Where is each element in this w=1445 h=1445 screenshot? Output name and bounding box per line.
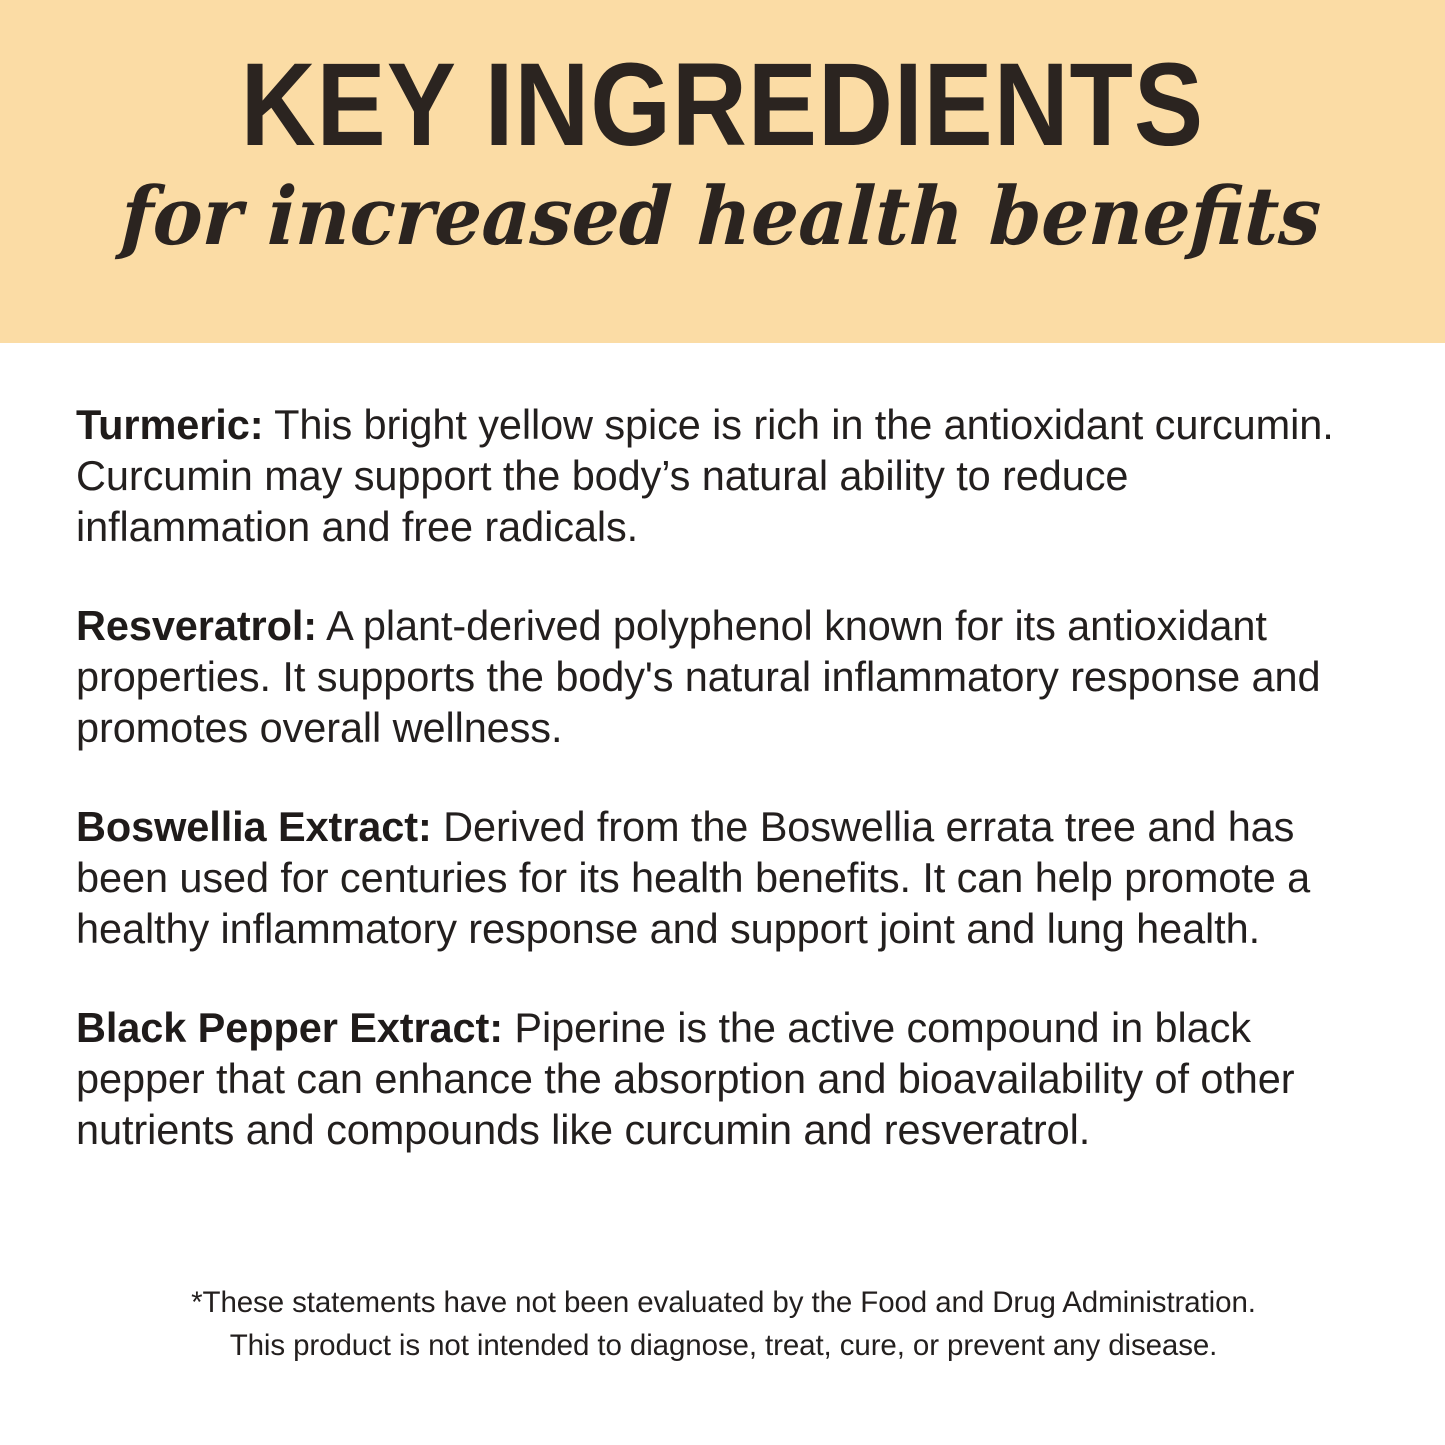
ingredient-name: Black Pepper Extract: (76, 1004, 503, 1051)
ingredient-item-black-pepper-extract: Black Pepper Extract: Piperine is the ac… (76, 1002, 1371, 1155)
ingredient-item-turmeric: Turmeric: This bright yellow spice is ri… (76, 399, 1371, 552)
ingredient-item-resveratrol: Resveratrol: A plant-derived polyphenol … (76, 600, 1371, 753)
page-subtitle: for increased health benefits (119, 176, 1323, 256)
key-ingredients-infographic: KEY INGREDIENTS for increased health ben… (0, 0, 1445, 1445)
ingredient-item-boswellia-extract: Boswellia Extract: Derived from the Bosw… (76, 801, 1371, 954)
disclaimer-line-2: This product is not intended to diagnose… (86, 1324, 1361, 1367)
header-band: KEY INGREDIENTS for increased health ben… (0, 0, 1445, 343)
ingredient-name: Resveratrol: (76, 602, 317, 649)
ingredient-name: Turmeric: (76, 401, 263, 448)
disclaimer-line-1: *These statements have not been evaluate… (86, 1281, 1361, 1324)
ingredients-list: Turmeric: This bright yellow spice is ri… (0, 343, 1445, 1445)
fda-disclaimer: *These statements have not been evaluate… (76, 1281, 1371, 1367)
ingredient-name: Boswellia Extract: (76, 803, 432, 850)
page-title: KEY INGREDIENTS (241, 46, 1204, 164)
ingredient-description: This bright yellow spice is rich in the … (76, 401, 1334, 550)
